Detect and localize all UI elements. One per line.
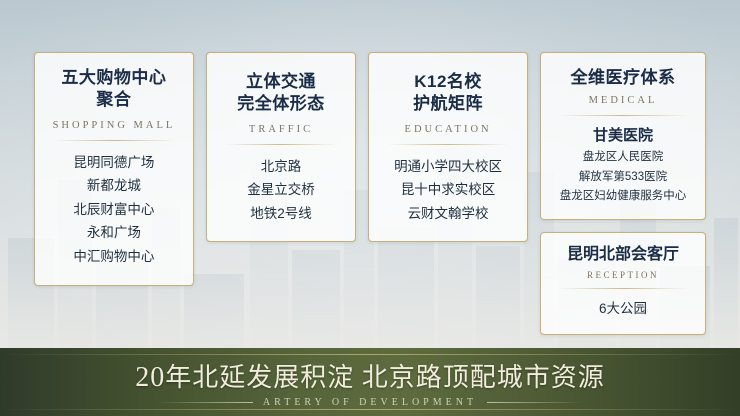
card-divider xyxy=(558,288,688,289)
card-reception-list: 6大公园 xyxy=(549,297,697,321)
card-medical-subtitle: MEDICAL xyxy=(549,95,697,106)
list-item: 6大公园 xyxy=(549,297,697,321)
card-shopping-mall-list: 昆明同德广场 新都龙城 北辰财富中心 永和广场 中汇购物中心 xyxy=(45,151,183,269)
card-column-right: 全维医疗体系 MEDICAL 甘美医院 盘龙区人民医院 解放军第533医院 盘龙… xyxy=(540,52,706,335)
banner-subline: ARTERY OF DEVELOPMENT xyxy=(157,397,583,408)
card-shopping-mall[interactable]: 五大购物中心 聚合 SHOPPING MALL 昆明同德广场 新都龙城 北辰财富… xyxy=(34,52,194,286)
card-shopping-mall-subtitle: SHOPPING MALL xyxy=(45,120,183,131)
card-education-list: 明通小学四大校区 昆十中求实校区 云财文翰学校 xyxy=(379,155,517,226)
feature-card-row: 五大购物中心 聚合 SHOPPING MALL 昆明同德广场 新都龙城 北辰财富… xyxy=(34,52,706,335)
card-education-subtitle: EDUCATION xyxy=(379,124,517,135)
list-item: 金星立交桥 xyxy=(217,178,345,202)
list-item: 云财文翰学校 xyxy=(379,202,517,226)
card-education[interactable]: K12名校 护航矩阵 EDUCATION 明通小学四大校区 昆十中求实校区 云财… xyxy=(368,52,528,242)
card-medical-highlight: 甘美医院 xyxy=(549,126,697,146)
banner-subline-text: ARTERY OF DEVELOPMENT xyxy=(263,397,477,408)
card-traffic-title: 立体交通 完全体形态 xyxy=(217,71,345,115)
bottom-banner: 20年北延发展积淀 北京路顶配城市资源 ARTERY OF DEVELOPMEN… xyxy=(0,348,740,416)
list-item: 昆明同德广场 xyxy=(45,151,183,175)
list-item: 昆十中求实校区 xyxy=(379,178,517,202)
banner-headline-text: 年北延发展积淀 北京路顶配城市资源 xyxy=(165,363,605,392)
card-traffic-list: 北京路 金星立交桥 地铁2号线 xyxy=(217,155,345,226)
list-item: 北京路 xyxy=(217,155,345,179)
card-divider xyxy=(225,144,338,145)
card-divider xyxy=(53,140,174,141)
poster-canvas: 五大购物中心 聚合 SHOPPING MALL 昆明同德广场 新都龙城 北辰财富… xyxy=(0,0,740,416)
list-item: 地铁2号线 xyxy=(217,202,345,226)
card-traffic-subtitle: TRAFFIC xyxy=(217,124,345,135)
list-item: 新都龙城 xyxy=(45,174,183,198)
card-medical-title: 全维医疗体系 xyxy=(549,67,697,89)
banner-rule-left xyxy=(157,402,253,403)
list-item: 中汇购物中心 xyxy=(45,245,183,269)
card-reception-subtitle: RECEPTION xyxy=(549,270,697,280)
banner-rule-right xyxy=(487,402,583,403)
card-education-title: K12名校 护航矩阵 xyxy=(379,71,517,115)
list-item: 盘龙区人民医院 xyxy=(549,148,697,168)
card-reception-title: 昆明北部会客厅 xyxy=(549,245,697,266)
card-traffic[interactable]: 立体交通 完全体形态 TRAFFIC 北京路 金星立交桥 地铁2号线 xyxy=(206,52,356,242)
card-divider xyxy=(387,144,508,145)
card-divider xyxy=(558,115,688,116)
list-item: 解放军第533医院 xyxy=(549,168,697,188)
banner-number: 20 xyxy=(135,362,165,393)
list-item: 明通小学四大校区 xyxy=(379,155,517,179)
list-item: 北辰财富中心 xyxy=(45,198,183,222)
card-medical[interactable]: 全维医疗体系 MEDICAL 甘美医院 盘龙区人民医院 解放军第533医院 盘龙… xyxy=(540,52,706,220)
list-item: 盘龙区妇幼健康服务中心 xyxy=(549,187,697,207)
card-medical-list: 盘龙区人民医院 解放军第533医院 盘龙区妇幼健康服务中心 xyxy=(549,148,697,207)
list-item: 永和广场 xyxy=(45,221,183,245)
banner-headline: 20年北延发展积淀 北京路顶配城市资源 xyxy=(135,357,605,394)
card-reception[interactable]: 昆明北部会客厅 RECEPTION 6大公园 xyxy=(540,232,706,335)
card-shopping-mall-title: 五大购物中心 聚合 xyxy=(45,67,183,111)
